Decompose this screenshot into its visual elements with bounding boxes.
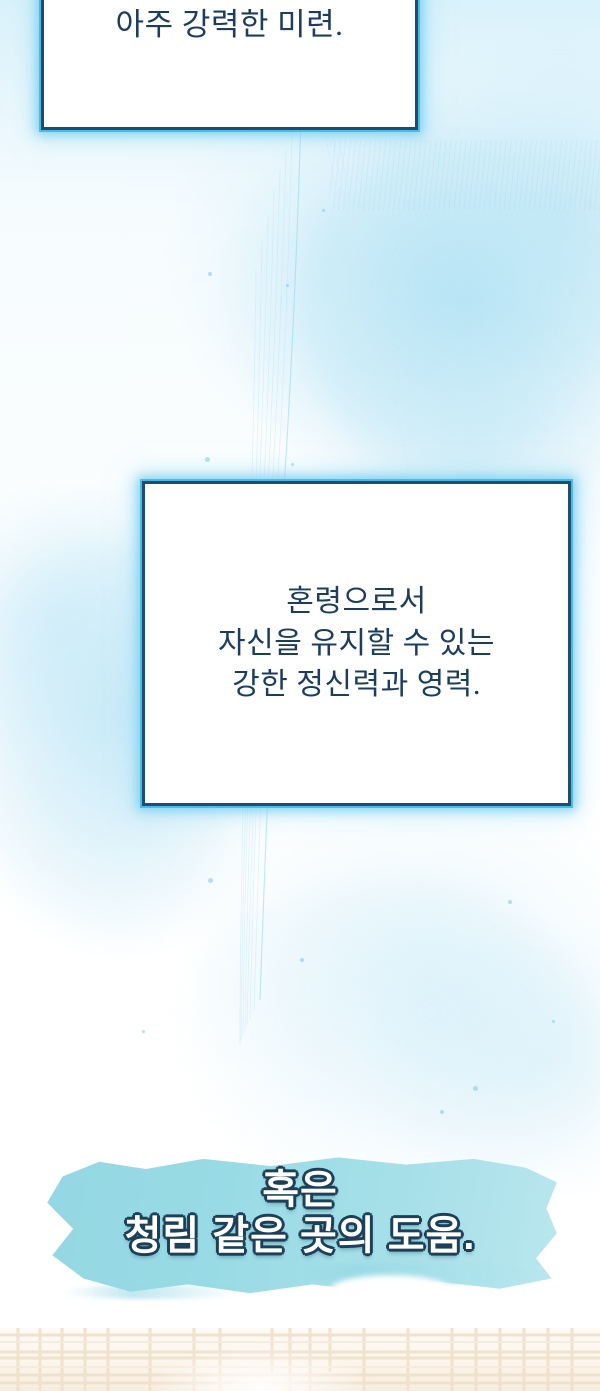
background-dot — [205, 457, 210, 462]
background-dot — [473, 1086, 478, 1091]
brush-caption-area: 혹은 청림 같은 곳의 도움. — [0, 1135, 600, 1350]
speech-panel-top: 아주 강력한 미련. — [41, 0, 418, 130]
background-dot — [291, 463, 294, 466]
background-dot — [142, 1030, 145, 1033]
background-dot — [508, 900, 512, 904]
background-dot — [300, 958, 304, 962]
background-dot — [552, 1020, 555, 1023]
speech-panel-middle-text: 혼령으로서 자신을 유지할 수 있는 강한 정신력과 영력. — [218, 581, 495, 705]
background-dot — [322, 209, 325, 212]
bottom-lattice-pattern — [0, 1328, 600, 1391]
speech-panel-top-text: 아주 강력한 미련. — [116, 0, 344, 45]
brush-caption-text: 혹은 청림 같은 곳의 도움. — [0, 1167, 600, 1260]
background-blob-upper-right — [300, 140, 600, 470]
background-dot — [208, 272, 212, 276]
background-dot — [208, 878, 213, 883]
background-dot — [440, 1110, 444, 1114]
background-halftone-stripes — [330, 140, 600, 210]
brush-stroke-wisp — [62, 1285, 242, 1299]
speech-panel-middle: 혼령으로서 자신을 유지할 수 있는 강한 정신력과 영력. — [142, 481, 571, 806]
brush-stroke-highlight — [330, 1275, 450, 1305]
background-dot — [286, 284, 289, 287]
webtoon-page: 아주 강력한 미련. 혼령으로서 자신을 유지할 수 있는 강한 정신력과 영력… — [0, 0, 600, 1391]
